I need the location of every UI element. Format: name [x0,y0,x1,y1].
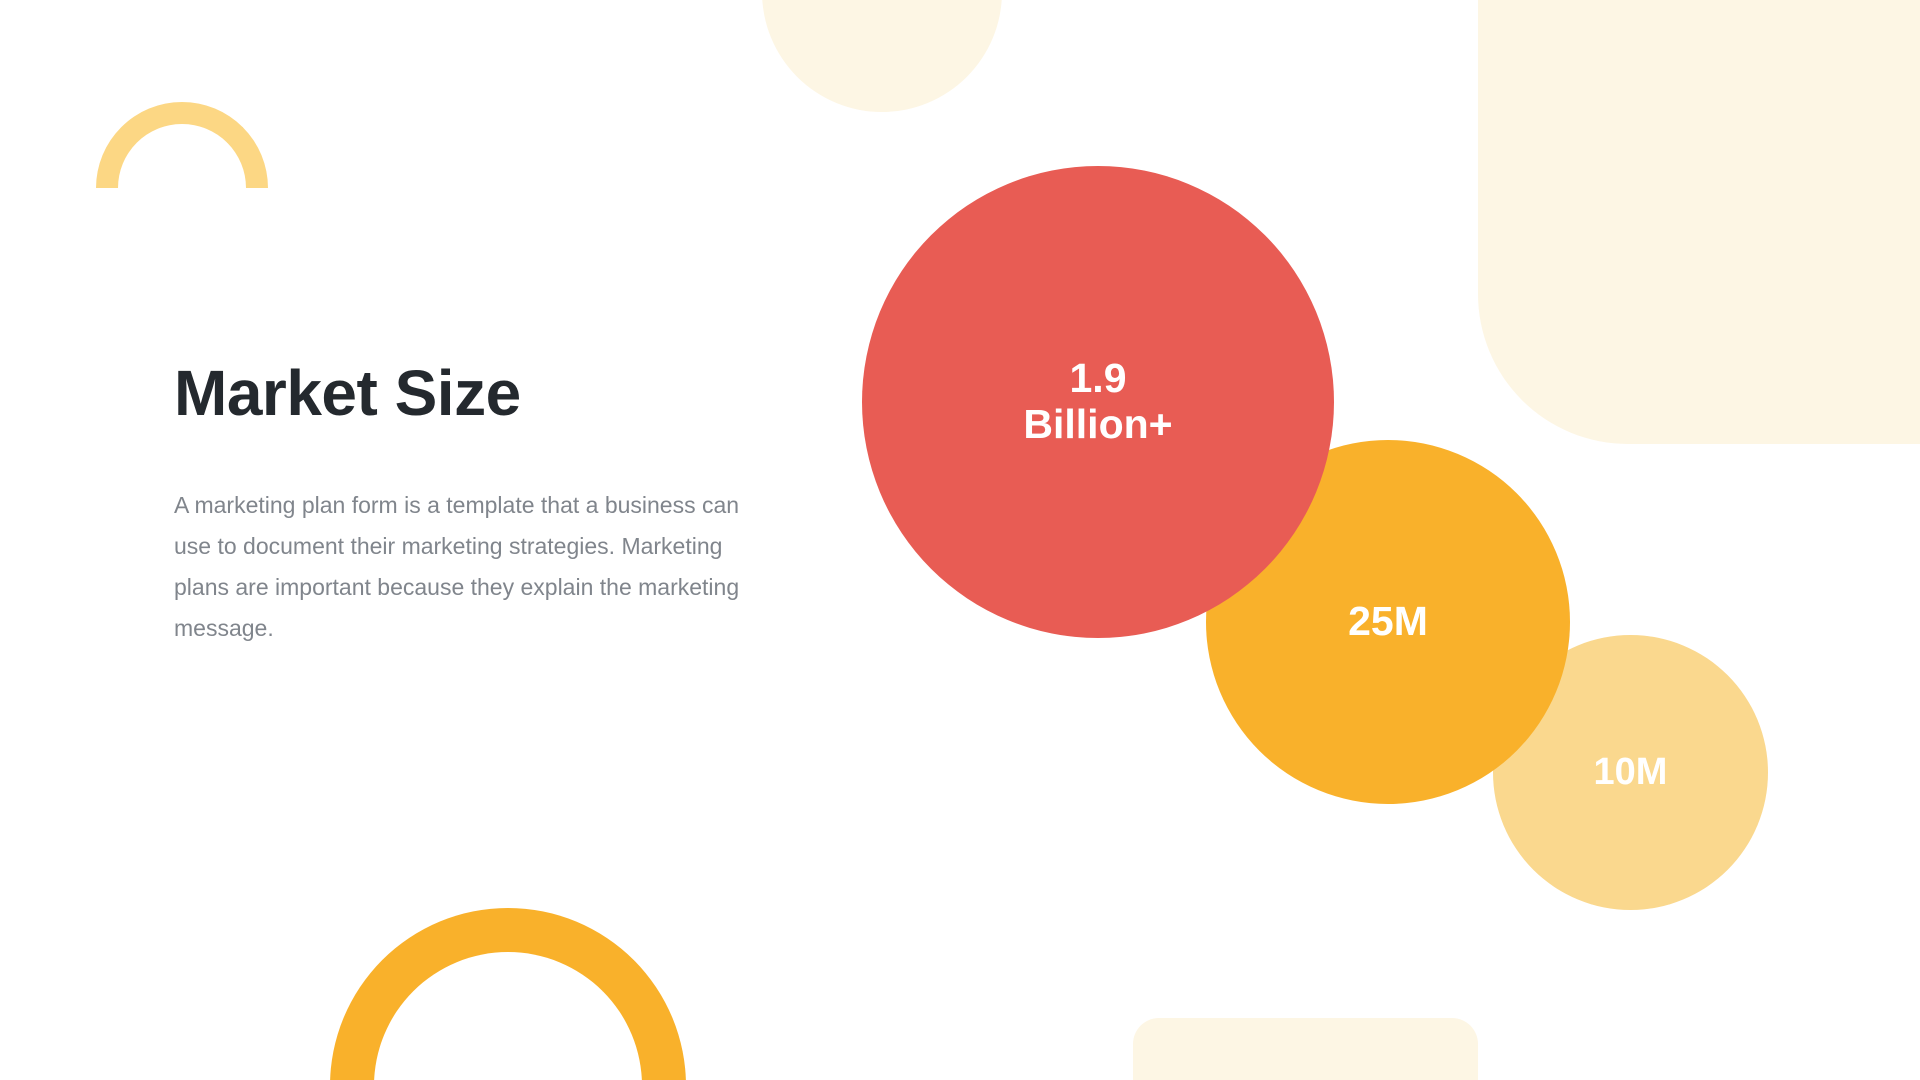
decoration-arc-orange-bottom-left [330,908,686,1080]
stat-value-secondary: 25M [1348,599,1428,645]
stat-bubble-primary: 1.9 Billion+ [862,166,1334,638]
stat-value-primary: 1.9 Billion+ [1023,356,1172,448]
decoration-cream-circle-top [762,0,1002,112]
decoration-cream-bar-bottom [1133,1018,1478,1080]
decoration-arc-light-top-left [96,102,268,188]
decoration-cream-corner-top-right [1478,0,1920,444]
stat-value-tertiary: 10M [1594,751,1668,794]
text-column: Market Size A marketing plan form is a t… [174,360,794,649]
page-title: Market Size [174,360,794,427]
slide-canvas: Market Size A marketing plan form is a t… [0,0,1920,1080]
body-paragraph: A marketing plan form is a template that… [174,485,774,649]
